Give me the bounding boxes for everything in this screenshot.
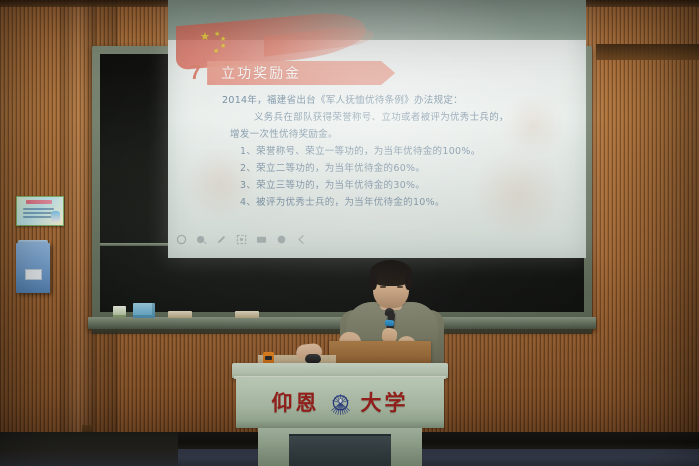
pen-icon[interactable]	[216, 234, 227, 245]
blue-wall-cabinet[interactable]	[16, 243, 50, 293]
wall-shading-right	[579, 0, 699, 466]
presentation-toolbar[interactable]	[176, 234, 307, 245]
poster-text-line	[23, 216, 54, 218]
slide-title-row: 7 立功奖励金	[190, 60, 395, 86]
slide-paragraph-line-1: 义务兵在部队获得荣誉称号、立功或者被评为优秀士兵的，	[254, 109, 586, 126]
flag-star-small: ★	[213, 48, 219, 55]
podium-branding: 仰恩	[236, 382, 444, 424]
flag-star-large: ★	[200, 34, 210, 41]
microphone-band	[385, 320, 395, 327]
blackboard-eraser[interactable]	[235, 311, 259, 318]
blackboard-eraser[interactable]	[168, 311, 192, 318]
floor-left-shadow	[0, 432, 178, 466]
presenter-eye	[397, 286, 403, 288]
slide-list-item: 3、荣立三等功的，为当年优待金的30%。	[240, 177, 586, 194]
slide-section-number: 7	[190, 60, 207, 86]
pen-menu-icon[interactable]	[196, 234, 207, 245]
projection-screen[interactable]: ★ ★ ★ ★ ★ 7 立功奖励金 2014年，福建省出台《军人抚恤优待条例》办…	[168, 0, 586, 258]
wall-soffit-band	[596, 44, 699, 60]
podium-kick-panel	[289, 436, 391, 466]
flag-star-small: ★	[220, 43, 226, 50]
sunburst-logo-icon	[327, 390, 354, 417]
blue-chalk-box[interactable]	[133, 303, 155, 318]
cabinet-label	[25, 269, 42, 280]
green-chalk-box[interactable]	[113, 306, 126, 318]
laptop[interactable]	[329, 341, 431, 365]
slide-body: 2014年，福建省出台《军人抚恤优待条例》办法规定： 义务兵在部队获得荣誉称号、…	[168, 92, 586, 211]
computer-mouse[interactable]	[305, 354, 321, 363]
more-options-icon[interactable]	[276, 234, 287, 245]
presenter-eye	[380, 286, 386, 288]
poster-heading-bar	[26, 200, 52, 204]
poster-text-line	[23, 212, 54, 214]
slide-list-item: 2、荣立二等功的，为当年优待金的60%。	[240, 160, 586, 177]
university-name-left: 仰恩	[272, 391, 320, 415]
slide-list-item: 1、荣誉称号、荣立一等功的，为当年优待金的100%。	[240, 143, 586, 160]
wall-pillar	[60, 0, 96, 466]
wall-poster[interactable]	[16, 196, 64, 226]
previous-slide-icon[interactable]	[296, 234, 307, 245]
lecture-hall-photo: ★ ★ ★ ★ ★ 7 立功奖励金 2014年，福建省出台《军人抚恤优待条例》办…	[0, 0, 699, 466]
slide-list-item: 4、被评为优秀士兵的，为当年优待金的10%。	[240, 194, 586, 211]
presenter-hair-side	[369, 272, 377, 290]
flag-stars-icon: ★ ★ ★ ★ ★	[200, 31, 256, 53]
university-name-right: 大学	[361, 391, 409, 415]
poster-cartoon-icon	[51, 211, 60, 222]
zoom-icon[interactable]	[236, 234, 247, 245]
slide-paragraph-line-2: 增发一次性优待奖励金。	[230, 126, 586, 143]
slide-title-banner: 立功奖励金	[207, 61, 395, 85]
pointer-icon[interactable]	[176, 234, 187, 245]
presenter-hair-side	[405, 272, 413, 290]
slide-lead-line: 2014年，福建省出台《军人抚恤优待条例》办法规定：	[222, 92, 586, 109]
poster-text-line	[23, 208, 54, 210]
slide-title: 立功奖励金	[221, 63, 301, 83]
slide-view-icon[interactable]	[256, 234, 267, 245]
flag-star-small: ★	[220, 36, 226, 43]
presenter-face-shading	[373, 284, 409, 308]
